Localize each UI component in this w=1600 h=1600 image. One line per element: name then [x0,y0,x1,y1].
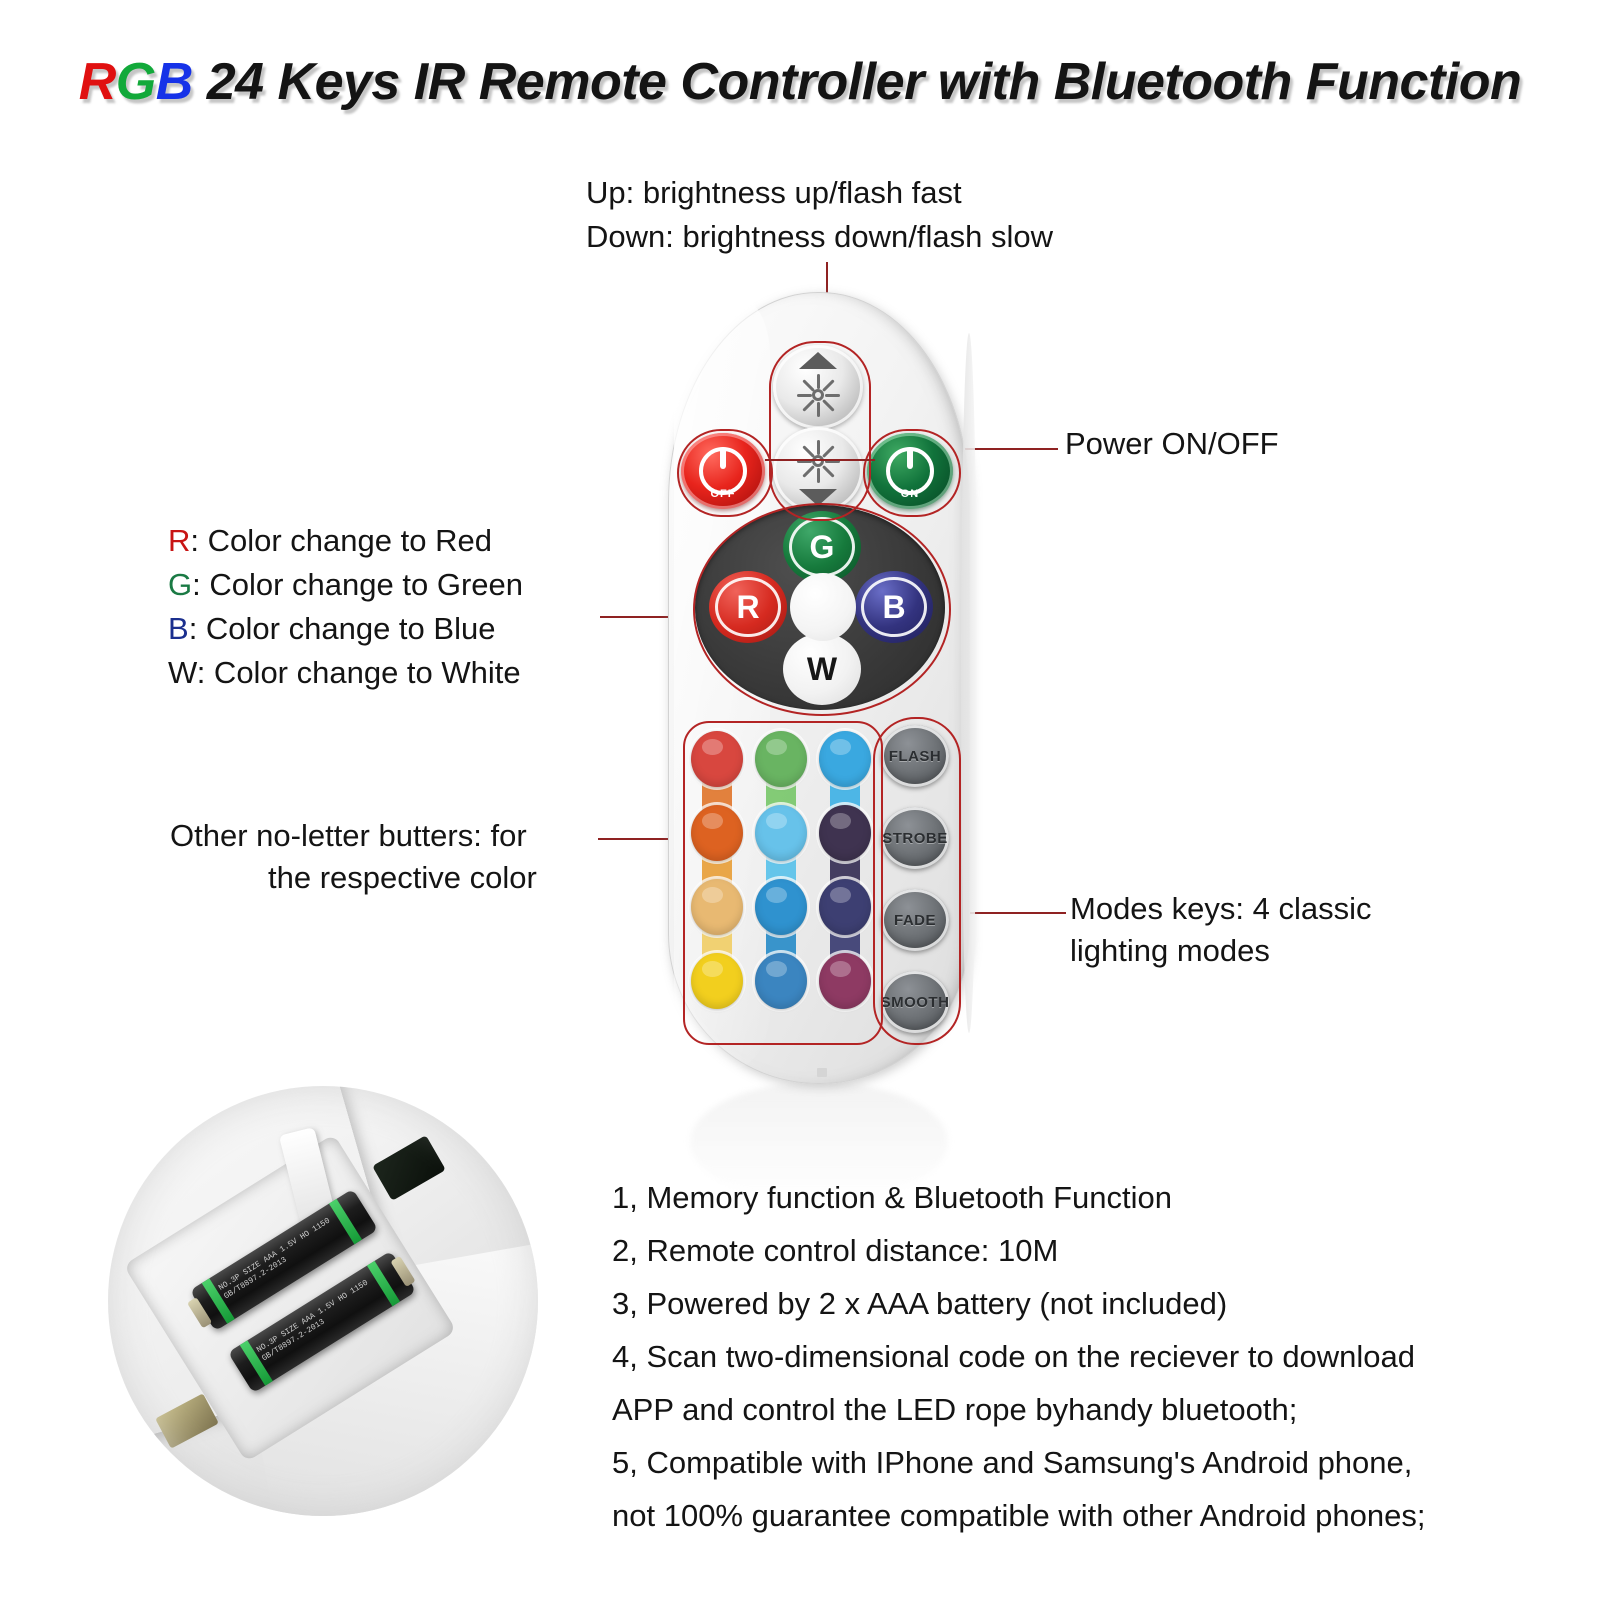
annotation-green: G: Color change to Green [168,564,523,606]
remote-bottom-notch [817,1068,827,1077]
annotation-blue: B: Color change to Blue [168,608,495,650]
highlight-power-off [677,429,773,517]
annotation-noletter-line2: the respective color [268,857,537,899]
title-rest: 24 Keys IR Remote Controller with Blueto… [193,53,1521,111]
annotation-noletter-line1: Other no-letter butters: for [170,815,527,857]
spec-item-1: 1, Memory function & Bluetooth Function [612,1178,1512,1218]
annotation-blue-letter: B [168,611,189,646]
spec-item-5: 5, Compatible with IPhone and Samsung's … [612,1443,1512,1483]
spec-item-3: 3, Powered by 2 x AAA battery (not inclu… [612,1284,1512,1324]
highlight-power-on [863,429,961,517]
page-title: RGB 24 Keys IR Remote Controller with Bl… [0,52,1600,112]
annotation-red-letter: R [168,523,190,558]
annotation-white-letter: W [168,655,197,690]
remote-control-body: OFF ON G R B W [668,292,970,1084]
annotation-red: R: Color change to Red [168,520,492,562]
title-letter-b: B [156,53,193,111]
title-letter-r: R [79,53,116,111]
annotation-power-on: ON [1161,426,1208,461]
annotation-green-text: : Color change to Green [192,567,523,602]
annotation-power-suffix: /OFF [1208,426,1279,461]
spec-item-2: 2, Remote control distance: 10M [612,1231,1512,1271]
remote-side-edge [961,333,977,1033]
spec-item-4-cont: APP and control the LED rope byhandy blu… [612,1390,1512,1430]
spec-list: 1, Memory function & Bluetooth Function … [612,1178,1512,1549]
annotation-power: Power ON/OFF [1065,423,1279,465]
annotation-green-letter: G [168,567,192,602]
annotation-power-prefix: Power [1065,426,1161,461]
annotation-red-text: : Color change to Red [190,523,492,558]
leader-line-internal [765,459,875,461]
annotation-brightness-down: Down: brightness down/flash slow [586,216,1053,258]
annotation-blue-text: : Color change to Blue [189,611,496,646]
spec-item-5-cont: not 100% guarantee compatible with other… [612,1496,1512,1536]
annotation-brightness-up: Up: brightness up/flash fast [586,172,962,214]
annotation-white-text: : Color change to White [197,655,521,690]
highlight-modes [873,717,961,1045]
title-letter-g: G [116,53,156,111]
annotation-modes-line2: lighting modes [1070,930,1270,972]
highlight-brightness [769,341,871,521]
highlight-rgbw [693,503,951,716]
annotation-white: W: Color change to White [168,652,521,694]
photo-vignette [108,1086,538,1516]
highlight-colorgrid [683,721,883,1045]
battery-compartment-photo: NO.3P SIZE AAA 1.5V HO 1150 GB/T8897.2-2… [108,1086,538,1516]
spec-item-4: 4, Scan two-dimensional code on the reci… [612,1337,1512,1377]
annotation-modes-line1: Modes keys: 4 classic [1070,888,1372,930]
